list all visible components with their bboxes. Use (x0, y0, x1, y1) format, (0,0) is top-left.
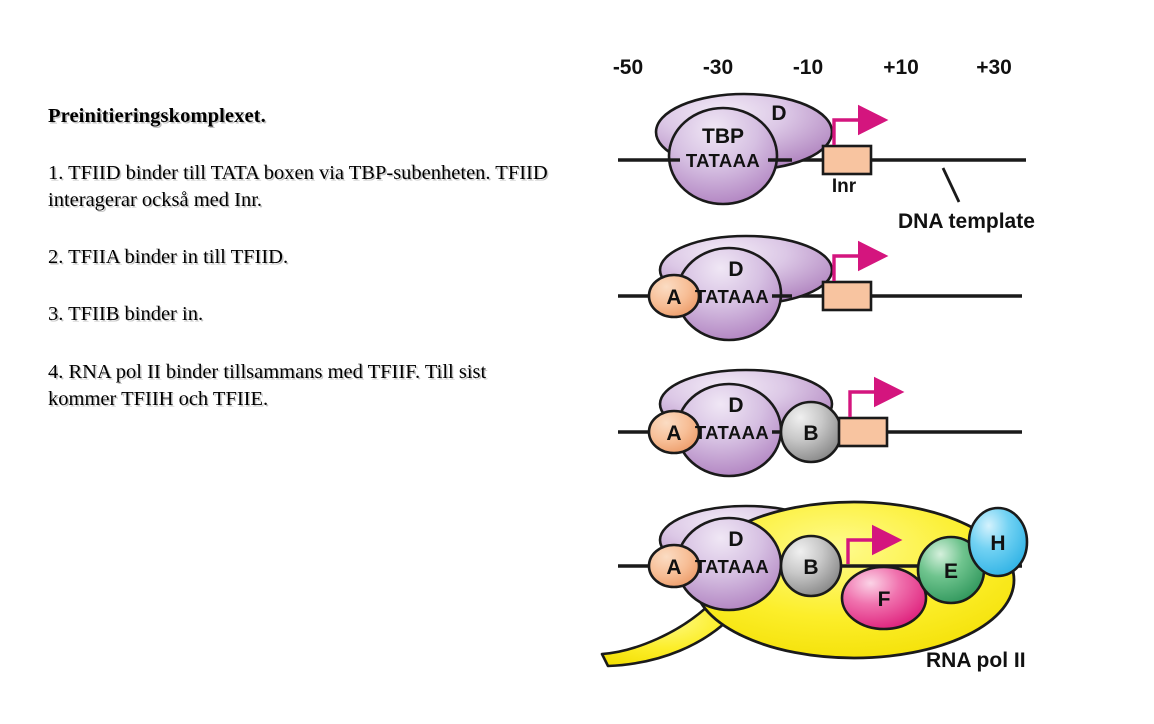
inr-box-3 (839, 418, 887, 446)
scale-label-1: -30 (703, 56, 733, 79)
panel-2: D TATAAA A (618, 236, 1022, 340)
scale-label-0: -50 (613, 56, 643, 79)
tfiia-label-4: A (666, 556, 681, 579)
text-column: Preinitieringskomplexet. 1. TFIID binder… (48, 104, 548, 413)
scale-label-4: +30 (976, 56, 1012, 79)
tfiib-label-4: B (803, 556, 818, 579)
scale-labels: -50 -30 -10 +10 +30 (613, 56, 1012, 79)
tfiia-label-2: A (666, 286, 681, 309)
step-3-text: 3. TFIIB binder in. (48, 301, 548, 328)
tfiih-label-4: H (990, 532, 1005, 555)
tbp-label-1: TBP (702, 125, 744, 148)
inr-box-1 (823, 146, 871, 174)
scale-label-2: -10 (793, 56, 823, 79)
inr-box-2 (823, 282, 871, 310)
tfiia-label-3: A (666, 422, 681, 445)
tfiie-label-4: E (944, 560, 958, 583)
transcription-arrow-3 (850, 392, 884, 417)
dna-template-leader-line (943, 168, 959, 202)
tfiid-label-1: D (771, 102, 786, 125)
step-2-text: 2. TFIIA binder in till TFIID. (48, 244, 548, 271)
rna-polymerase-label: RNA pol II (926, 649, 1026, 672)
tfiif-label-4: F (878, 588, 891, 611)
tfiid-label-2: D (728, 258, 743, 281)
dna-template-label: DNA template (898, 210, 1035, 233)
inr-label: Inr (832, 176, 857, 197)
tata-sequence-4: TATAAA (695, 556, 769, 577)
transcription-arrow-1 (834, 120, 868, 145)
slide-root: Preinitieringskomplexet. 1. TFIID binder… (0, 0, 1154, 724)
tfiid-label-4: D (728, 528, 743, 551)
panel-3: D TATAAA A B (618, 370, 1022, 476)
panel-1: D TBP TATAAA Inr DNA template (618, 94, 1035, 233)
tata-sequence-2: TATAAA (695, 286, 769, 307)
scale-label-3: +10 (883, 56, 919, 79)
panel-4: D TATAAA A B F E H RNA pol II (602, 502, 1027, 672)
slide-heading: Preinitieringskomplexet. (48, 104, 548, 130)
tata-sequence-3: TATAAA (695, 422, 769, 443)
transcription-arrow-2 (834, 256, 868, 281)
tfiib-label-3: B (803, 422, 818, 445)
tfiid-label-3: D (728, 394, 743, 417)
tata-sequence-1: TATAAA (686, 150, 760, 171)
preinitiation-complex-diagram: -50 -30 -10 +10 +30 D TBP TATAAA (596, 42, 1154, 702)
step-4-text: 4. RNA pol II binder tillsammans med TFI… (48, 359, 548, 414)
step-1-text: 1. TFIID binder till TATA boxen via TBP-… (48, 160, 548, 215)
